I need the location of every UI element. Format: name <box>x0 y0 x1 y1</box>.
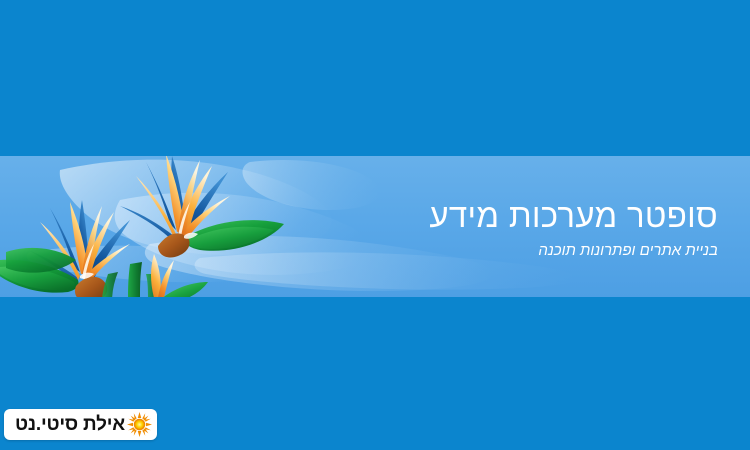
site-banner: סופטר מערכות מידע בניית אתרים ופתרונות ת… <box>0 156 750 297</box>
banner-text-block: סופטר מערכות מידע בניית אתרים ופתרונות ת… <box>429 198 718 260</box>
site-badge[interactable]: אילת סיטי.נט <box>4 409 157 440</box>
banner-title: סופטר מערכות מידע <box>429 198 718 235</box>
banner-subtitle: בניית אתרים ופתרונות תוכנה <box>429 242 718 260</box>
site-badge-label: אילת סיטי.נט <box>15 415 127 434</box>
page-root: סופטר מערכות מידע בניית אתרים ופתרונות ת… <box>0 0 750 450</box>
sun-icon <box>127 412 152 437</box>
